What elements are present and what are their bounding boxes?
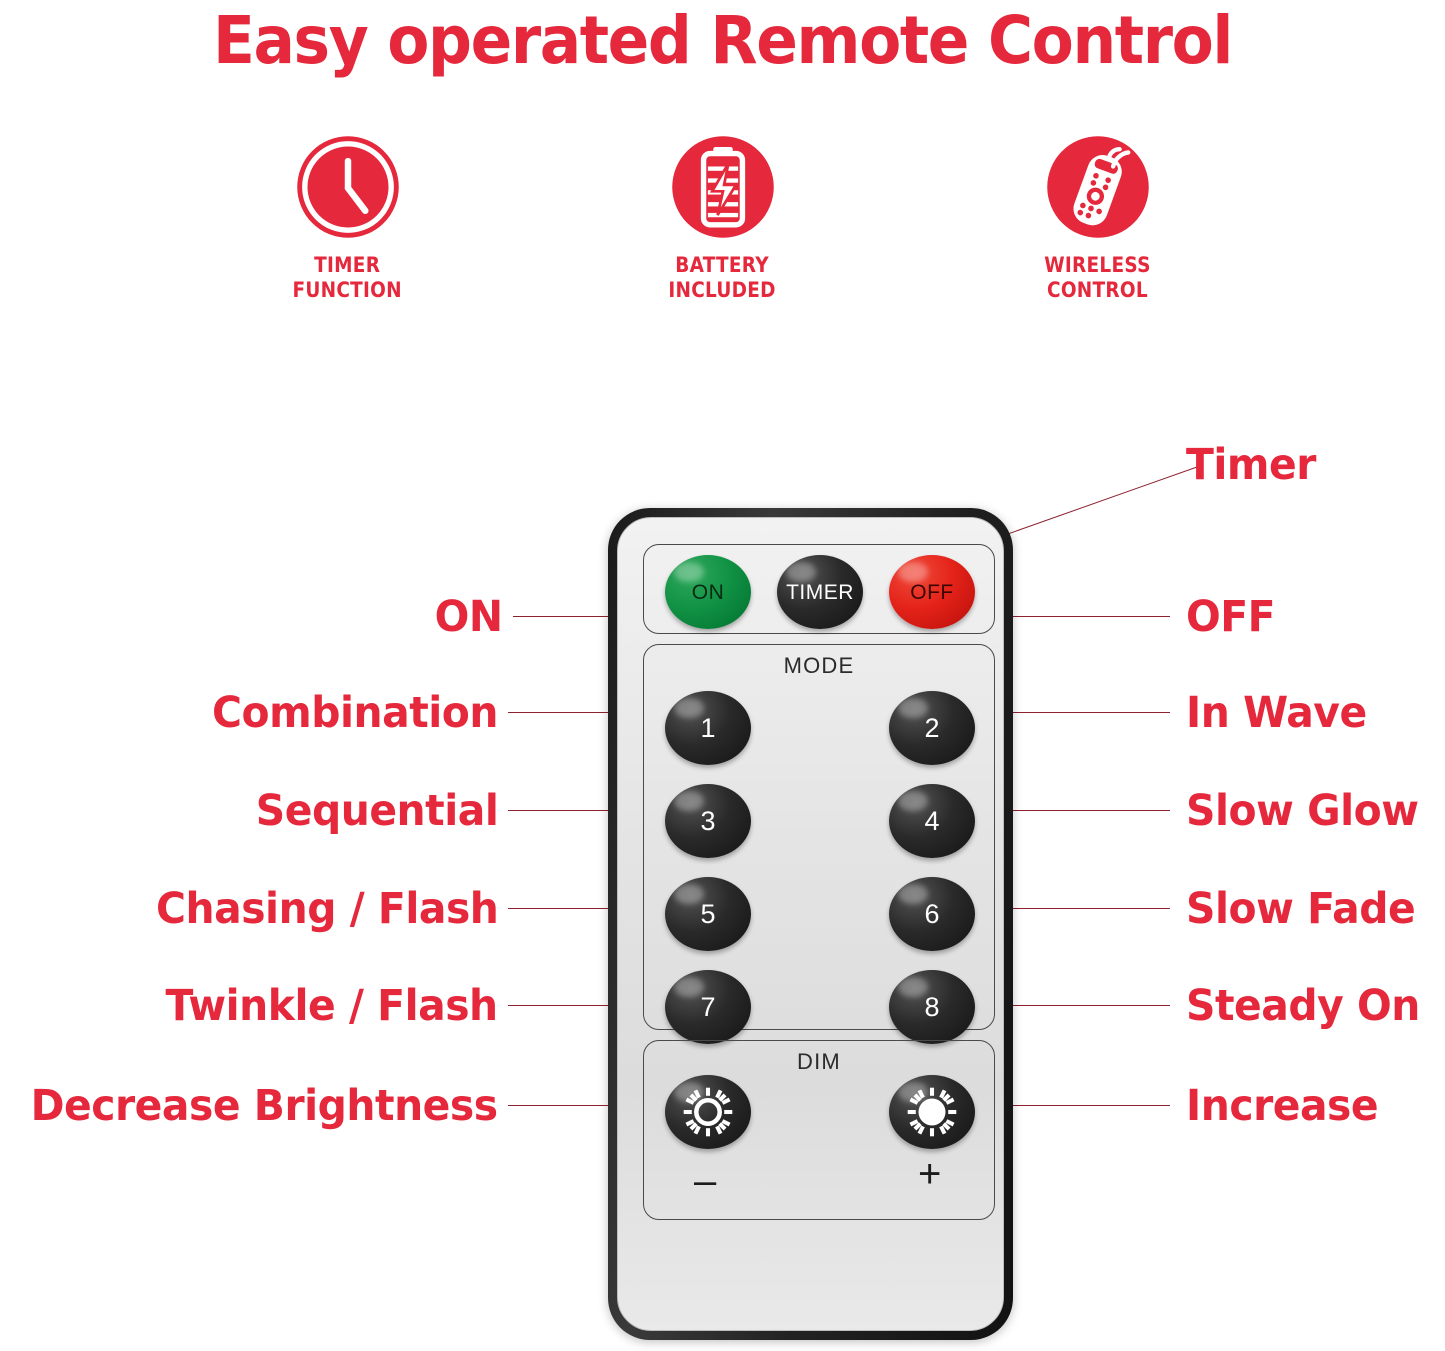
dim-panel: DIM: [643, 1040, 995, 1220]
power-panel: ON TIMER OFF: [643, 544, 995, 634]
timer-button-label: TIMER: [786, 582, 854, 603]
feature-wireless-control: WIRELESS CONTROL: [988, 133, 1208, 303]
mode-button-2-label: 2: [924, 715, 939, 742]
remote-control: ON TIMER OFF MODE 1 2 3 4: [608, 508, 1013, 1340]
mode-button-7[interactable]: 7: [665, 970, 751, 1044]
remote-faceplate: ON TIMER OFF MODE 1 2 3 4: [617, 517, 1004, 1331]
mode-button-2[interactable]: 2: [889, 691, 975, 765]
callout-twinkle-flash: Twinkle / Flash: [166, 985, 498, 1028]
feature-wireless-line2: CONTROL: [1044, 278, 1150, 303]
mode-button-4[interactable]: 4: [889, 784, 975, 858]
on-button[interactable]: ON: [665, 555, 751, 629]
mode-button-5-label: 5: [700, 901, 715, 928]
off-button[interactable]: OFF: [889, 555, 975, 629]
mode-button-4-label: 4: [924, 808, 939, 835]
callout-sequential: Sequential: [255, 790, 498, 833]
feature-battery-line2: INCLUDED: [669, 278, 776, 303]
callout-decrease-brightness: Decrease Brightness: [31, 1085, 498, 1128]
callout-timer: Timer: [1186, 444, 1316, 487]
mode-button-8[interactable]: 8: [889, 970, 975, 1044]
feature-wireless-line1: WIRELESS: [1044, 253, 1150, 278]
mode-button-5[interactable]: 5: [665, 877, 751, 951]
mode-panel-title: MODE: [644, 653, 994, 679]
mode-button-1-label: 1: [700, 715, 715, 742]
mode-button-1[interactable]: 1: [665, 691, 751, 765]
mode-button-3[interactable]: 3: [665, 784, 751, 858]
timer-button[interactable]: TIMER: [777, 555, 863, 629]
dim-panel-title: DIM: [644, 1049, 994, 1075]
feature-timer-line1: TIMER: [293, 253, 402, 278]
callout-off: OFF: [1186, 596, 1275, 639]
callout-increase: Increase: [1186, 1085, 1378, 1128]
feature-timer-function: TIMER FUNCTION: [238, 133, 458, 303]
off-button-label: OFF: [910, 582, 954, 603]
dim-down-button[interactable]: [665, 1075, 751, 1149]
feature-battery-line1: BATTERY: [669, 253, 776, 278]
clock-icon: [294, 133, 402, 241]
on-button-label: ON: [692, 582, 725, 603]
callout-in-wave: In Wave: [1186, 692, 1367, 735]
mode-button-6-label: 6: [924, 901, 939, 928]
mode-button-7-label: 7: [700, 994, 715, 1021]
mode-button-8-label: 8: [924, 994, 939, 1021]
dim-minus-sign: –: [694, 1161, 716, 1201]
feature-wireless-caption: WIRELESS CONTROL: [1044, 253, 1150, 303]
page-title: Easy operated Remote Control: [51, 2, 1395, 79]
feature-timer-caption: TIMER FUNCTION: [293, 253, 402, 303]
mode-button-6[interactable]: 6: [889, 877, 975, 951]
callout-on: ON: [435, 596, 503, 639]
mode-panel: MODE 1 2 3 4 5 6 7 8: [643, 644, 995, 1030]
callout-slow-fade: Slow Fade: [1186, 888, 1415, 931]
dim-up-button[interactable]: [889, 1075, 975, 1149]
brightness-low-icon: [681, 1085, 735, 1139]
feature-battery-included: BATTERY INCLUDED: [613, 133, 833, 303]
callout-steady-on: Steady On: [1186, 985, 1420, 1028]
callout-combination: Combination: [212, 692, 498, 735]
mode-button-3-label: 3: [700, 808, 715, 835]
feature-battery-caption: BATTERY INCLUDED: [669, 253, 776, 303]
callout-slow-glow: Slow Glow: [1186, 790, 1419, 833]
callout-chasing-flash: Chasing / Flash: [156, 888, 498, 931]
remote-signal-icon: [1044, 133, 1152, 241]
brightness-high-icon: [905, 1085, 959, 1139]
battery-icon: [669, 133, 777, 241]
feature-timer-line2: FUNCTION: [293, 278, 402, 303]
dim-plus-sign: +: [918, 1154, 941, 1194]
feature-badges: TIMER FUNCTION BATTERY INCLUDED: [0, 133, 1445, 303]
